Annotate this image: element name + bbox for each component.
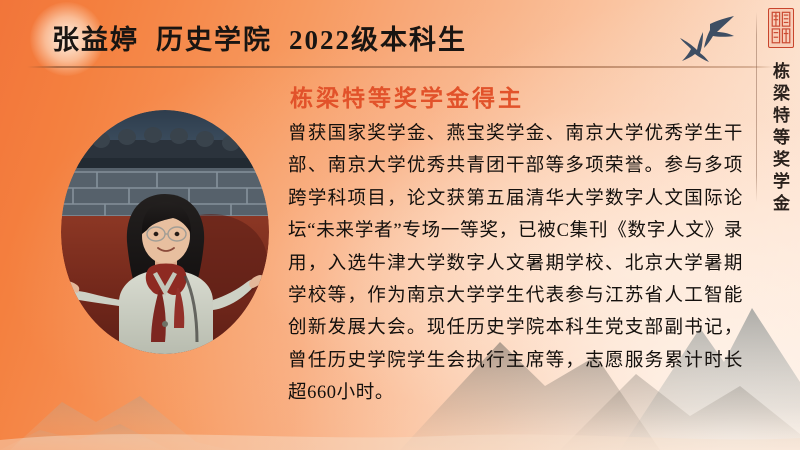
avatar [61,110,269,354]
student-cohort: 2022级本科生 [289,25,467,55]
award-subtitle: 栋梁特等奖学金得主 [290,79,524,113]
rail-vertical-text: 栋梁特等奖学金 [770,62,792,216]
swallow-icon [664,12,750,74]
student-name: 张益婷 [52,25,139,55]
page-title: 张益婷历史学院2022级本科生 [52,18,467,57]
student-department: 历史学院 [156,25,272,55]
seal-stamp-icon [768,8,794,48]
biography-text: 曾获国家奖学金、燕宝奖学金、南京大学优秀学生干部、南京大学优秀共青团干部等多项荣… [288,118,743,410]
rail-divider [756,12,757,202]
title-divider [27,66,774,68]
poster-canvas: 张益婷历史学院2022级本科生 栋梁特等奖学金得主 曾获国家奖学金、燕宝奖学金、… [0,0,800,450]
